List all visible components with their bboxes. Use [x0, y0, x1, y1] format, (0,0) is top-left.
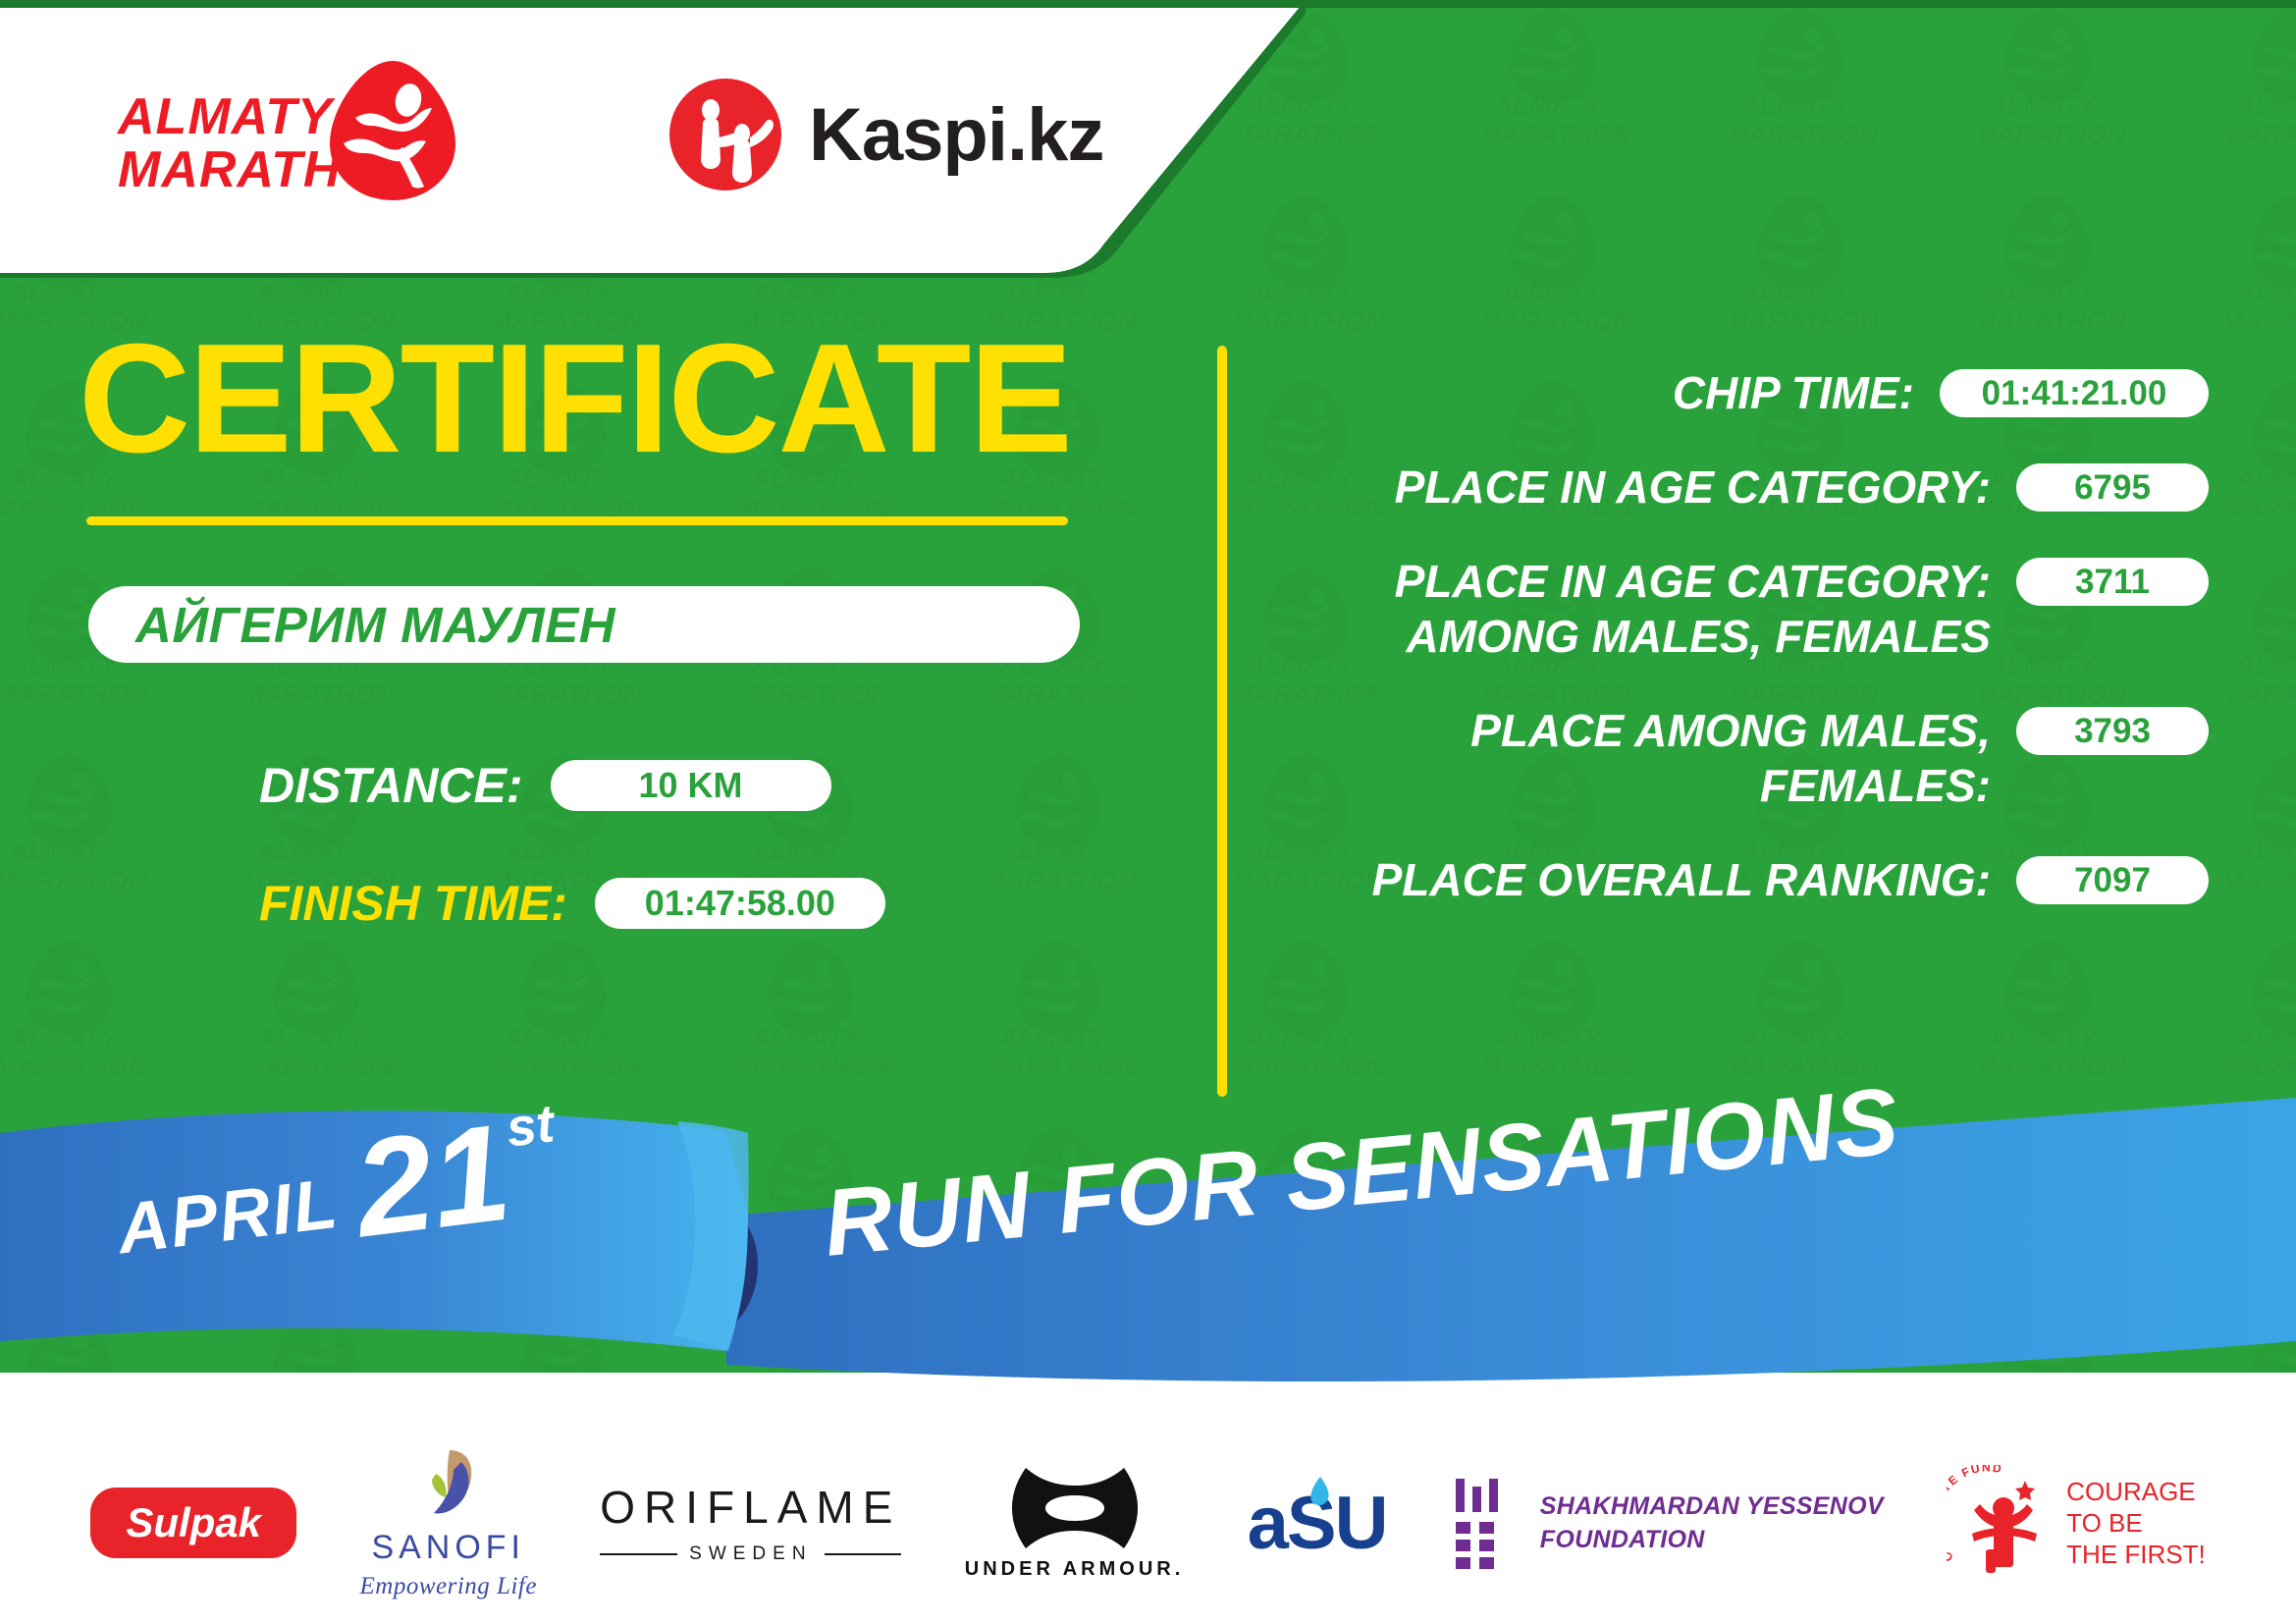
kaspi-logo: Kaspi.kz	[667, 77, 1103, 192]
top-green-strip	[0, 0, 2296, 8]
ribbon-month: APRIL	[113, 1164, 343, 1271]
participant-name-field: АЙГЕРИМ МАУЛЕН	[88, 586, 1080, 663]
stat-row-place-age-category: PLACE IN AGE CATEGORY: 6795	[1266, 460, 2209, 514]
runner-drop-icon	[324, 57, 461, 204]
certificate-left-column: CERTIFICATE АЙГЕРИМ МАУЛЕН DISTANCE: 10 …	[0, 324, 1158, 932]
sponsor-corporate-fund: CORPORATE FUND COURAGE TO BE THE FIRST!	[1947, 1465, 2206, 1581]
oriflame-rule-left	[600, 1553, 677, 1555]
sponsor-asu: aSU	[1248, 1481, 1387, 1566]
stats-panel: CHIP TIME: 01:41:21.00 PLACE IN AGE CATE…	[1266, 365, 2209, 947]
kaspi-wordmark: Kaspi.kz	[809, 92, 1103, 178]
finish-time-value-pill: 01:47:58.00	[595, 878, 885, 929]
ribbon-day: 21	[349, 1112, 515, 1248]
distance-row: DISTANCE: 10 KM	[259, 757, 1158, 814]
sulpak-logo: Sulpak	[90, 1488, 296, 1558]
stat-label-place-age-category-gender: PLACE IN AGE CATEGORY: AMONG MALES, FEMA…	[1266, 554, 2016, 664]
sponsor-sanofi: SANOFI Empowering Life	[360, 1446, 537, 1600]
asu-droplet-icon	[1307, 1475, 1332, 1508]
distance-label: DISTANCE:	[259, 757, 523, 814]
sponsor-sulpak: Sulpak	[90, 1488, 296, 1558]
courage-to-be-first-icon: CORPORATE FUND	[1947, 1465, 2056, 1581]
oriflame-country: SWEDEN	[689, 1543, 812, 1565]
finish-time-value: 01:47:58.00	[645, 883, 835, 924]
sanofi-wordmark: SANOFI	[371, 1529, 525, 1567]
stat-pill-place-age-category-gender: 3711	[2016, 558, 2209, 606]
stat-pill-chip-time: 01:41:21.00	[1940, 369, 2209, 417]
stat-value-place-age-category: 6795	[2074, 468, 2151, 508]
almaty-marathon-logo: ALMATY MARATHON	[118, 57, 471, 204]
courage-line2: TO BE	[2066, 1507, 2206, 1539]
stat-value-place-among-gender: 3793	[2074, 712, 2151, 751]
stat-pill-place-overall: 7097	[2016, 856, 2209, 904]
certificate-title: CERTIFICATE	[79, 324, 1158, 473]
vertical-divider	[1217, 346, 1227, 1097]
participant-name: АЙГЕРИМ МАУЛЕН	[135, 596, 615, 654]
courage-line3: THE FIRST!	[2066, 1539, 2206, 1570]
stat-row-place-overall: PLACE OVERALL RANKING: 7097	[1266, 852, 2209, 907]
stat-label-place-overall: PLACE OVERALL RANKING:	[1266, 852, 2016, 907]
stat-pill-place-age-category: 6795	[2016, 463, 2209, 512]
stat-label-place-age-category: PLACE IN AGE CATEGORY:	[1266, 460, 2016, 514]
finish-time-label: FINISH TIME:	[259, 875, 567, 932]
stat-row-place-among-gender: PLACE AMONG MALES, FEMALES: 3793	[1266, 703, 2209, 813]
stat-value-place-age-category-gender: 3711	[2075, 563, 2150, 602]
yessenov-foundation-wordmark: SHAKHMARDAN YESSENOV FOUNDATION	[1540, 1489, 1884, 1556]
sponsor-oriflame: ORIFLAME SWEDEN	[600, 1481, 901, 1565]
stat-label-place-among-gender: PLACE AMONG MALES, FEMALES:	[1266, 703, 2016, 813]
sponsor-under-armour: UNDER ARMOUR.	[965, 1466, 1184, 1581]
kaspi-people-circle-icon	[667, 77, 783, 192]
under-armour-wordmark: UNDER ARMOUR.	[965, 1558, 1184, 1581]
stat-row-chip-time: CHIP TIME: 01:41:21.00	[1266, 365, 2209, 420]
header-panel: ALMATY MARATHON	[0, 0, 1306, 278]
title-underline	[86, 516, 1068, 525]
sanofi-mark-icon	[410, 1446, 487, 1523]
sulpak-wordmark: Sulpak	[126, 1499, 261, 1546]
yessenov-line1: SHAKHMARDAN YESSENOV	[1540, 1489, 1884, 1523]
sponsor-shakhmardan-yessenov: SHAKHMARDAN YESSENOV FOUNDATION	[1450, 1477, 1884, 1569]
stat-value-place-overall: 7097	[2074, 861, 2151, 900]
finish-time-row: FINISH TIME: 01:47:58.00	[259, 875, 1158, 932]
under-armour-icon	[1010, 1466, 1140, 1550]
stat-value-chip-time: 01:41:21.00	[1982, 374, 2167, 413]
stat-row-place-age-category-gender: PLACE IN AGE CATEGORY: AMONG MALES, FEMA…	[1266, 554, 2209, 664]
oriflame-rule-right	[825, 1553, 902, 1555]
ribbon-day-suffix: st	[504, 1093, 558, 1159]
yessenov-line2: FOUNDATION	[1540, 1523, 1884, 1556]
stat-pill-place-among-gender: 3793	[2016, 707, 2209, 755]
distance-value: 10 KM	[639, 765, 743, 806]
stat-label-chip-time: CHIP TIME:	[1266, 365, 1940, 420]
yessenov-foundation-icon	[1450, 1477, 1519, 1569]
sanofi-tagline: Empowering Life	[360, 1573, 537, 1600]
courage-line1: COURAGE	[2066, 1476, 2206, 1507]
certificate-page: ALMATY MARATHON	[0, 0, 2296, 1624]
courage-wordmark: COURAGE TO BE THE FIRST!	[2066, 1476, 2206, 1570]
sponsors-bar: Sulpak SANOFI Empowering Life ORIFLAME S…	[0, 1422, 2296, 1624]
oriflame-subline: SWEDEN	[600, 1543, 901, 1565]
oriflame-wordmark: ORIFLAME	[600, 1481, 901, 1534]
distance-value-pill: 10 KM	[551, 760, 831, 811]
